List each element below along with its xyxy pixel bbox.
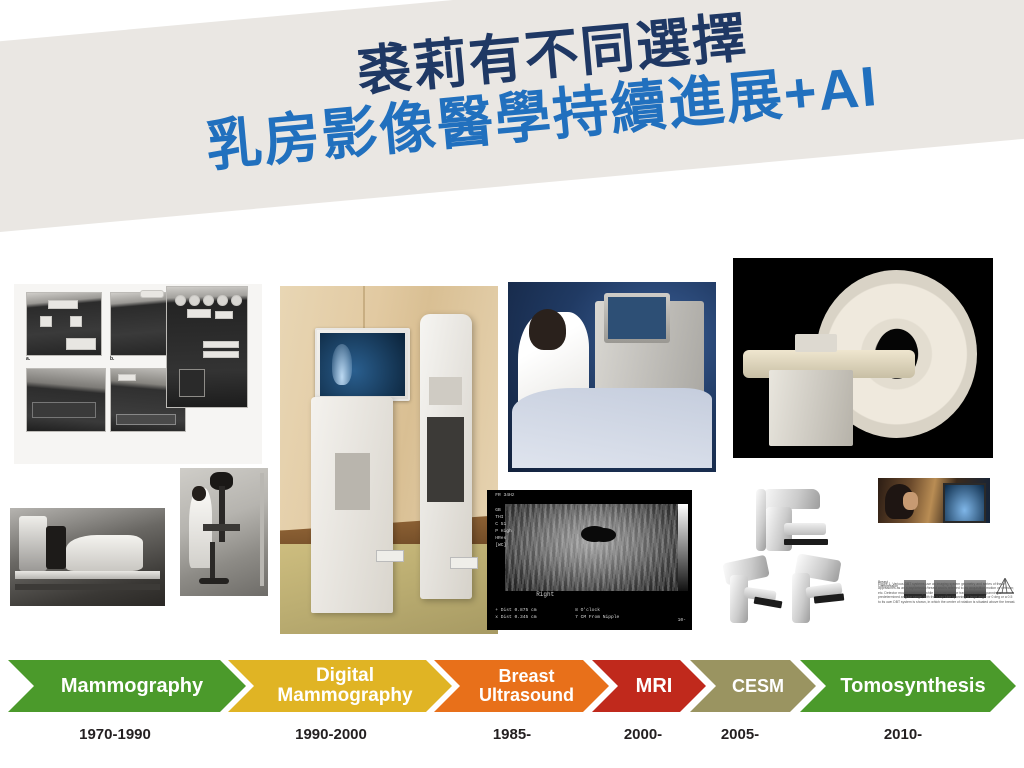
digital-mammography-room <box>280 286 498 634</box>
foot-pedal-left <box>376 550 404 562</box>
grayscale-bar <box>678 504 688 591</box>
timeline-dates: 1970-1990 1990-2000 1985- 2000- 2005- 20… <box>0 726 1024 756</box>
breast-ultrasound-scan: FR 34Hz GBTHIC 51P HighHRes[WC] Right 8 … <box>487 490 692 630</box>
timeline-date-tomosynthesis: 2010- <box>828 726 978 743</box>
sonographer-hair <box>529 309 566 351</box>
foot-pedal-right <box>450 557 478 569</box>
timeline-step-label: BreastUltrasound <box>463 667 580 705</box>
plate-caption-b: b. <box>110 356 114 362</box>
review-monitor <box>315 328 411 402</box>
timeline-step-label: Tomosynthesis <box>824 676 991 697</box>
scan-annotation-distance-from-nipple: 7 CM From Nipple <box>575 615 619 622</box>
scan-measurement-1: + Dist 0.875 cm <box>495 608 536 615</box>
radiologist-face <box>903 492 919 510</box>
mri-control-panel <box>795 334 837 352</box>
image-collage: a. b. c. <box>0 240 1024 650</box>
scan-side-label: Right <box>536 590 554 599</box>
mri-table-base <box>769 370 852 446</box>
ultrasound-image-area <box>505 504 677 591</box>
timeline-step-tomosynthesis[interactable]: Tomosynthesis <box>800 660 1016 712</box>
tomo-right-column <box>792 573 810 623</box>
timeline-step-label: Mammography <box>45 676 209 697</box>
timeline-step-digital-mammography[interactable]: DigitalMammography <box>228 660 452 712</box>
timeline-step-mri[interactable]: MRI <box>592 660 706 712</box>
breast-mri-scanner <box>733 258 993 458</box>
breast-ultrasound-exam <box>508 282 716 472</box>
acquisition-workstation <box>311 397 394 613</box>
timeline-date-breast-ultrasound: 1985- <box>432 726 592 743</box>
figure-caption: Figure 1. Various DBT systems use an ima… <box>878 582 1016 604</box>
scan-depth-scale: 10- <box>678 618 686 625</box>
timeline-date-mammography: 1970-1990 <box>8 726 222 743</box>
scan-annotation-clock: 8 O'clock <box>575 608 600 615</box>
slide-canvas: a. b. c. <box>0 0 1024 768</box>
ultrasound-display <box>604 293 671 342</box>
timeline-date-digital-mammography: 1990-2000 <box>220 726 442 743</box>
timeline-step-mammography[interactable]: Mammography <box>8 660 246 712</box>
timeline-step-label: DigitalMammography <box>261 666 418 706</box>
timeline-step-label: MRI <box>620 676 679 697</box>
tomosynthesis-gantry-views <box>718 485 870 630</box>
timeline-step-cesm[interactable]: CESM <box>690 660 816 712</box>
scan-header: FR 34Hz <box>495 493 514 500</box>
tomosynthesis-figure-diagram: BreastCompression Figure 1. Various DBT … <box>878 566 1016 604</box>
plate-caption-a: a. <box>26 356 30 362</box>
tomo-top-stand <box>756 489 766 551</box>
reading-room-workstation <box>878 478 990 523</box>
tomo-top-paddle <box>784 539 828 545</box>
workstation-display <box>943 483 985 523</box>
tomo-top-arm <box>784 523 826 535</box>
early-mammography-patient-photo <box>10 508 165 606</box>
timeline-step-label: CESM <box>716 677 790 696</box>
patient-on-table <box>512 388 712 468</box>
scan-measurement-2: x Dist 0.345 cm <box>495 615 536 622</box>
historic-mammography-generator-photo: c. <box>166 286 248 408</box>
scan-side-info: GBTHIC 51P HighHRes[WC] <box>495 508 512 549</box>
timeline-step-breast-ultrasound[interactable]: BreastUltrasound <box>434 660 609 712</box>
mammography-unit <box>420 314 472 599</box>
lesion-marker <box>581 526 608 541</box>
tomo-top-head <box>762 489 820 509</box>
timeline-date-cesm: 2005- <box>682 726 798 743</box>
tomo-left-paddle <box>754 597 783 609</box>
tomo-left-column <box>730 575 748 623</box>
timeline-chevrons: Mammography DigitalMammography BreastUlt… <box>0 660 1024 712</box>
early-mammography-technologist-photo: 11 <box>180 468 268 596</box>
title-banner-shape <box>0 0 1024 238</box>
